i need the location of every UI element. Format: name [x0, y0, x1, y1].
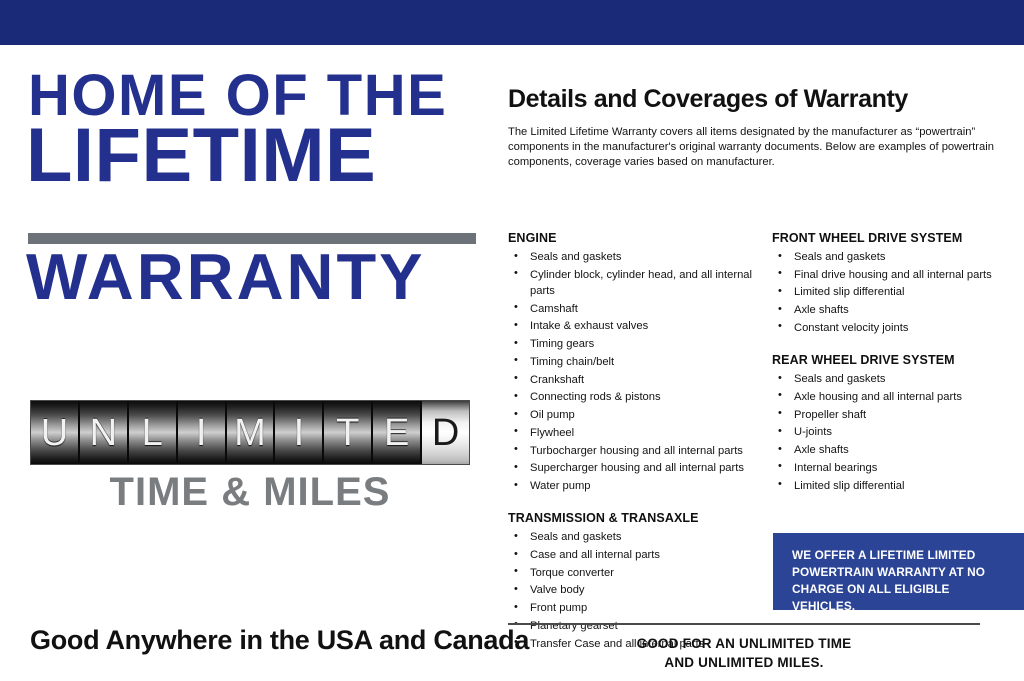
hero-line-3: WARRANTY — [26, 247, 426, 307]
coverage-section-heading: ENGINE — [508, 231, 760, 245]
footer-note: GOOD FOR AN UNLIMITED TIME AND UNLIMITED… — [508, 634, 980, 672]
coverage-item: Cylinder block, cylinder head, and all i… — [508, 267, 760, 299]
footer-note-line-2: AND UNLIMITED MILES. — [508, 653, 980, 672]
coverage-item: Planetary gearset — [508, 618, 760, 634]
coverage-item-list: Seals and gasketsAxle housing and all in… — [772, 371, 1020, 494]
footer-note-line-1: GOOD FOR AN UNLIMITED TIME — [508, 634, 980, 653]
coverage-item: Intake & exhaust valves — [508, 318, 760, 334]
coverage-item: Supercharger housing and all internal pa… — [508, 460, 760, 476]
coverage-item: Propeller shaft — [772, 407, 1020, 423]
odometer-caption: TIME & MILES — [30, 470, 470, 515]
coverage-column-left: ENGINESeals and gasketsCylinder block, c… — [508, 231, 760, 653]
coverage-item: Limited slip differential — [772, 284, 1020, 300]
odometer-cell: I — [178, 401, 227, 464]
coverage-item: Limited slip differential — [772, 478, 1020, 494]
footer-divider — [508, 623, 980, 625]
offer-callout-text: WE OFFER A LIFETIME LIMITED POWERTRAIN W… — [792, 547, 1010, 615]
coverage-item: Case and all internal parts — [508, 547, 760, 563]
page-title: Details and Coverages of Warranty — [508, 85, 908, 114]
coverage-item: Axle shafts — [772, 442, 1020, 458]
coverage-section-heading: FRONT WHEEL DRIVE SYSTEM — [772, 231, 1020, 245]
odometer-cell: D — [422, 401, 469, 464]
coverage-item: Crankshaft — [508, 372, 760, 388]
coverage-item: Water pump — [508, 478, 760, 494]
coverage-section-heading: TRANSMISSION & TRANSAXLE — [508, 511, 760, 525]
coverage-item: Final drive housing and all internal par… — [772, 267, 1020, 283]
odometer-cell-glyph: I — [294, 414, 305, 452]
left-panel: HOME OF THE LIFETIME WARRANTY UNLIMITED … — [0, 45, 500, 681]
odometer-cell: I — [275, 401, 324, 464]
odometer-cell-glyph: M — [234, 414, 266, 452]
coverage-item-list: Seals and gasketsFinal drive housing and… — [772, 249, 1020, 336]
odometer-cell: E — [373, 401, 422, 464]
coverage-item: Axle shafts — [772, 302, 1020, 318]
coverage-section: FRONT WHEEL DRIVE SYSTEMSeals and gasket… — [772, 231, 1020, 336]
coverage-section-heading: REAR WHEEL DRIVE SYSTEM — [772, 353, 1020, 367]
odometer-cell: N — [80, 401, 129, 464]
warranty-flyer-page: HOME OF THE LIFETIME WARRANTY UNLIMITED … — [0, 0, 1024, 681]
offer-callout-box: WE OFFER A LIFETIME LIMITED POWERTRAIN W… — [773, 533, 1024, 610]
coverage-item: Internal bearings — [772, 460, 1020, 476]
coverage-section: TRANSMISSION & TRANSAXLESeals and gasket… — [508, 511, 760, 652]
coverage-item: Seals and gaskets — [508, 249, 760, 265]
coverage-item: Turbocharger housing and all internal pa… — [508, 443, 760, 459]
hero-line-2: LIFETIME — [26, 121, 376, 191]
odometer-cell: U — [31, 401, 80, 464]
coverage-item: Front pump — [508, 600, 760, 616]
coverage-section: ENGINESeals and gasketsCylinder block, c… — [508, 231, 760, 494]
coverage-item: Torque converter — [508, 565, 760, 581]
coverage-item: Seals and gaskets — [772, 249, 1020, 265]
odometer-cell: L — [129, 401, 178, 464]
coverage-item: Flywheel — [508, 425, 760, 441]
right-panel: Details and Coverages of Warranty The Li… — [500, 45, 1024, 681]
odometer-cell-glyph: L — [142, 414, 163, 452]
coverage-item: U-joints — [772, 424, 1020, 440]
coverage-item: Axle housing and all internal parts — [772, 389, 1020, 405]
odometer-cell-glyph: N — [90, 414, 117, 452]
coverage-column-right: FRONT WHEEL DRIVE SYSTEMSeals and gasket… — [772, 231, 1020, 495]
coverage-item: Valve body — [508, 582, 760, 598]
coverage-item: Seals and gaskets — [772, 371, 1020, 387]
odometer-cell: M — [227, 401, 276, 464]
odometer-cell-glyph: T — [336, 414, 359, 452]
odometer-cell-glyph: D — [432, 414, 459, 452]
coverage-region-tagline: Good Anywhere in the USA and Canada — [30, 625, 529, 656]
coverage-item: Camshaft — [508, 301, 760, 317]
coverage-section: REAR WHEEL DRIVE SYSTEMSeals and gaskets… — [772, 353, 1020, 494]
odometer-cell-glyph: E — [384, 414, 409, 452]
coverage-item: Seals and gaskets — [508, 529, 760, 545]
coverage-item: Constant velocity joints — [772, 320, 1020, 336]
top-navy-banner — [0, 0, 1024, 45]
coverage-item: Oil pump — [508, 407, 760, 423]
odometer-cell-glyph: I — [196, 414, 207, 452]
odometer-cell-glyph: U — [41, 414, 68, 452]
odometer-graphic: UNLIMITED — [30, 400, 470, 465]
coverage-item: Connecting rods & pistons — [508, 389, 760, 405]
intro-paragraph: The Limited Lifetime Warranty covers all… — [508, 125, 1000, 169]
coverage-item: Timing gears — [508, 336, 760, 352]
odometer-cell: T — [324, 401, 373, 464]
coverage-item-list: Seals and gasketsCylinder block, cylinde… — [508, 249, 760, 494]
coverage-item: Timing chain/belt — [508, 354, 760, 370]
